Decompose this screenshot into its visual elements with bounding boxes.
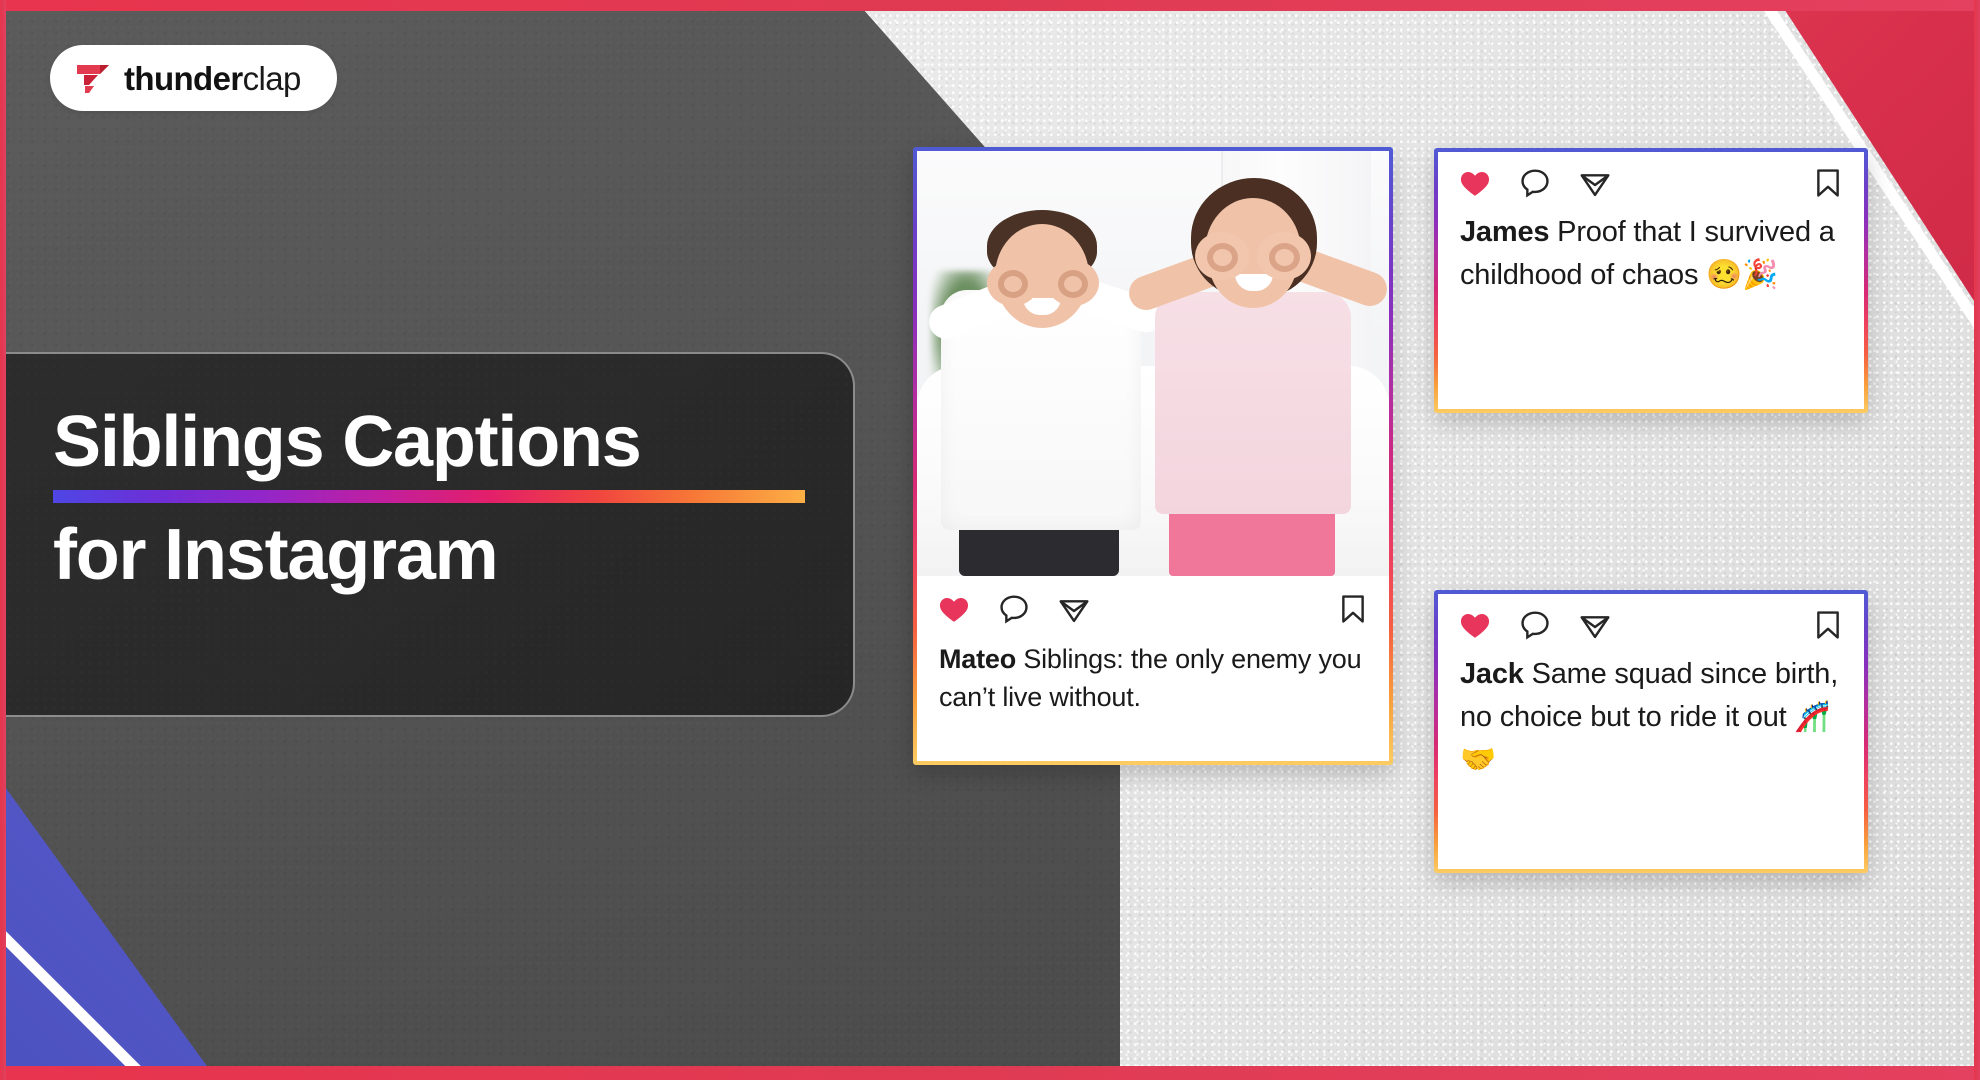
brand-wordmark: thunderclap [124,62,301,95]
post-inner: Jack Same squad since birth, no choice b… [1438,594,1864,869]
child-girl-figure [1139,156,1379,576]
paper-plane-icon[interactable] [1057,592,1091,626]
instagram-post-card-james[interactable]: James Proof that I survived a childhood … [1434,148,1868,413]
post-photo-siblings [917,151,1389,576]
post-inner: Mateo Siblings: the only enemy you can’t… [917,151,1389,761]
page-title-line-1: Siblings Captions [53,404,853,480]
post-inner: James Proof that I survived a childhood … [1438,152,1864,409]
poster-canvas: thunderclap Siblings Captions for Instag… [0,0,1980,1080]
post-emojis: 🥴🎉 [1706,257,1778,291]
brand-logo[interactable]: thunderclap [50,45,337,111]
heart-icon[interactable] [1458,608,1492,642]
post-action-bar [1438,594,1864,642]
post-caption: Mateo Siblings: the only enemy you can’t… [917,626,1389,736]
bookmark-icon[interactable] [1812,166,1844,200]
post-author: James [1460,216,1549,248]
post-action-bar [917,576,1389,626]
brand-name-light: clap [243,60,301,97]
heart-icon[interactable] [937,592,971,626]
post-author: Mateo [939,644,1016,674]
title-gradient-underline [53,490,805,503]
post-caption: Jack Same squad since birth, no choice b… [1438,642,1864,799]
thunderclap-triangle-mark-icon [76,61,110,95]
instagram-post-card-mateo[interactable]: Mateo Siblings: the only enemy you can’t… [913,147,1393,765]
child-boy-figure [935,176,1165,576]
comment-bubble-icon[interactable] [1518,166,1552,200]
comment-bubble-icon[interactable] [1518,608,1552,642]
post-action-bar [1438,152,1864,200]
paper-plane-icon[interactable] [1578,166,1612,200]
page-title-line-2: for Instagram [53,517,853,593]
bookmark-icon[interactable] [1337,592,1369,626]
instagram-post-card-jack[interactable]: Jack Same squad since birth, no choice b… [1434,590,1868,873]
brand-name-bold: thunder [124,60,243,97]
heart-icon[interactable] [1458,166,1492,200]
comment-bubble-icon[interactable] [997,592,1031,626]
post-author: Jack [1460,658,1524,690]
bookmark-icon[interactable] [1812,608,1844,642]
hero-title-card: Siblings Captions for Instagram [0,352,855,717]
post-caption: James Proof that I survived a childhood … [1438,200,1864,315]
paper-plane-icon[interactable] [1578,608,1612,642]
